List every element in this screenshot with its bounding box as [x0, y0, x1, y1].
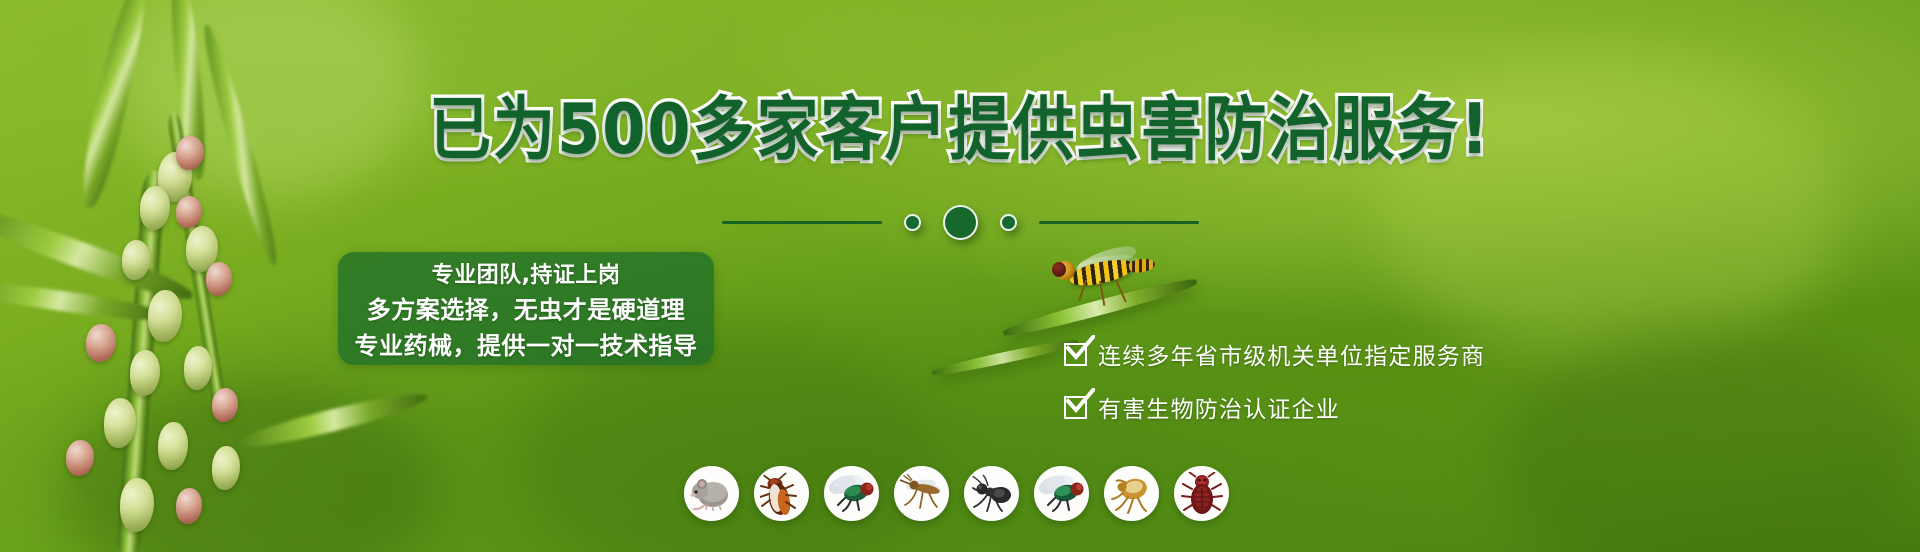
credential-label: 有害生物防治认证企业 [1098, 390, 1340, 424]
bedbug-icon [1174, 466, 1229, 521]
cockroach-icon [754, 466, 809, 521]
hoverfly-icon [1045, 240, 1175, 310]
ant-icon [964, 466, 1019, 521]
mouse-icon [684, 466, 739, 521]
checkbox-checked-icon [1064, 343, 1087, 366]
flea-icon [1104, 466, 1159, 521]
mosquito-icon [894, 466, 949, 521]
list-item: 有害生物防治认证企业 [1064, 390, 1485, 424]
checkbox-checked-icon [1064, 396, 1087, 419]
pest-icon-row [684, 466, 1229, 521]
selling-point-line-3: 专业药械，提供一对一技术指导 [355, 326, 698, 361]
promo-banner: 已为500多家客户提供虫害防治服务! 专业团队,持证上岗 多方案选择，无虫才是硬… [0, 0, 1920, 552]
list-item: 连续多年省市级机关单位指定服务商 [1064, 337, 1485, 371]
selling-point-line-2: 多方案选择，无虫才是硬道理 [367, 290, 686, 325]
fly-icon [824, 466, 879, 521]
credentials-list: 连续多年省市级机关单位指定服务商 有害生物防治认证企业 [1064, 337, 1485, 424]
headline: 已为500多家客户提供虫害防治服务! [0, 78, 1920, 168]
headline-text: 已为500多家客户提供虫害防治服务! [429, 73, 1491, 174]
blowfly-icon [1034, 466, 1089, 521]
selling-point-line-1: 专业团队,持证上岗 [432, 257, 621, 289]
credential-label: 连续多年省市级机关单位指定服务商 [1098, 337, 1485, 371]
selling-points-panel: 专业团队,持证上岗 多方案选择，无虫才是硬道理 专业药械，提供一对一技术指导 [338, 252, 714, 365]
